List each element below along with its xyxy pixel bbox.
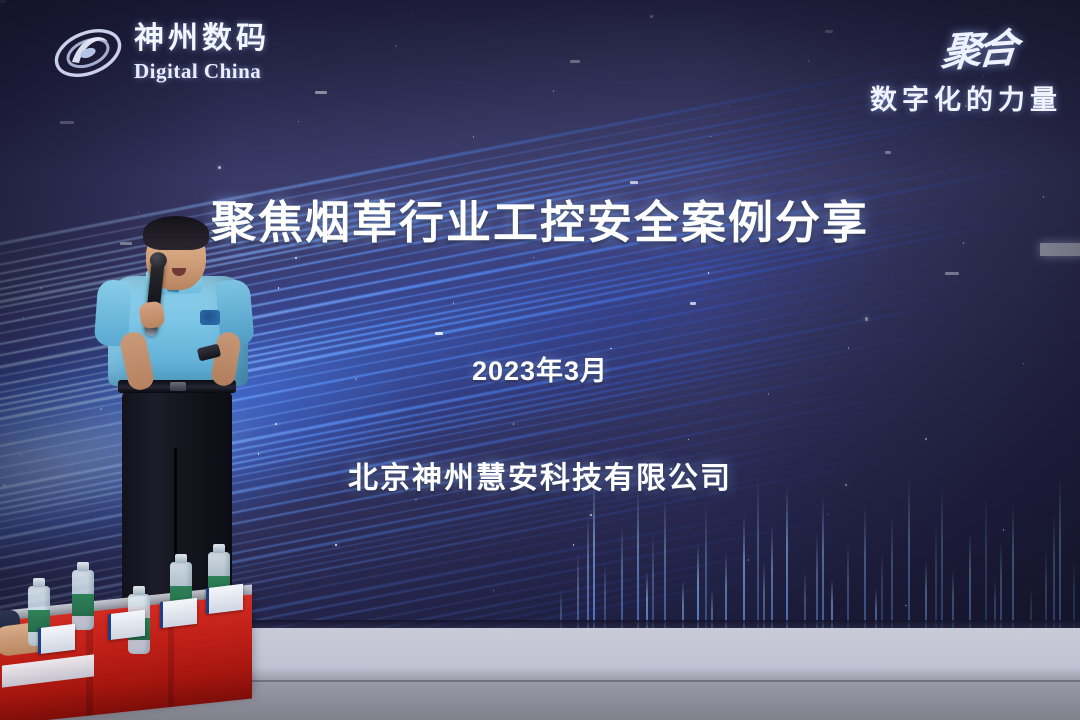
- presenter-hair: [143, 216, 209, 250]
- name-card: [108, 610, 145, 641]
- name-card: [38, 624, 75, 655]
- name-card: [206, 584, 243, 615]
- brand-name-cn: 神州数码: [134, 24, 270, 54]
- brand-name-en: Digital China: [134, 61, 270, 82]
- digital-china-swirl-icon: [52, 22, 124, 84]
- brand-logo: 神州数码 Digital China: [52, 22, 270, 84]
- name-card: [160, 598, 197, 629]
- event-slogan: 聚合 数字化的力量: [870, 18, 1062, 117]
- presenter-hand-holding-mic: [138, 300, 165, 329]
- presenter-eye-right: [184, 245, 193, 248]
- presenter-eye-left: [160, 246, 169, 249]
- water-bottle: [72, 570, 94, 630]
- conference-photo: 神州数码 Digital China 聚合 数字化的力量 聚焦烟草行业工控安全案…: [0, 0, 1080, 720]
- polo-chest-logo: [200, 310, 220, 325]
- slogan-subtitle: 数字化的力量: [870, 78, 1062, 117]
- brand-wordmark: 神州数码 Digital China: [134, 24, 270, 82]
- slogan-calligraphy: 聚合: [939, 16, 1017, 79]
